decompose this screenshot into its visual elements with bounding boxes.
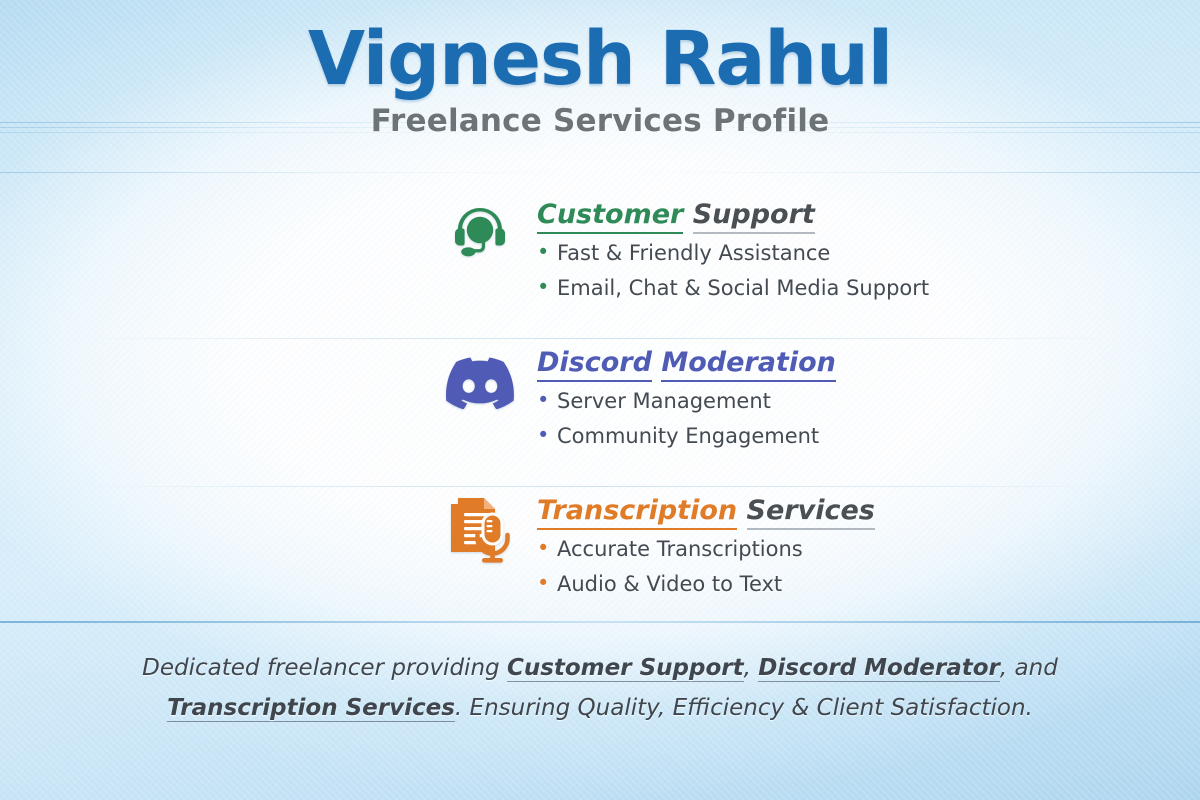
list-item: Email, Chat & Social Media Support	[537, 271, 929, 306]
footer-text-post: , and	[1000, 655, 1058, 681]
service-bullets: Fast & Friendly Assistance Email, Chat &…	[537, 236, 929, 307]
page-subtitle: Freelance Services Profile	[0, 103, 1200, 139]
service-item-customer-support: Customer Support Fast & Friendly Assista…	[0, 190, 1200, 338]
service-title: Transcription Services	[537, 496, 875, 526]
service-bullets: Server Management Community Engagement	[537, 384, 836, 455]
headset-icon	[443, 198, 517, 272]
footer-highlight-discord-moderator: Discord Moderator	[758, 655, 1000, 682]
footer-text-mid: ,	[744, 655, 759, 681]
service-content: Discord Moderation Server Management Com…	[517, 338, 836, 454]
services-list: Customer Support Fast & Friendly Assista…	[0, 190, 1200, 634]
service-title-word1: Discord	[537, 347, 652, 382]
profile-poster: Vignesh Rahul Freelance Services Profile	[0, 0, 1200, 800]
service-bullets: Accurate Transcriptions Audio & Video to…	[537, 532, 875, 603]
header-divider	[0, 172, 1200, 173]
service-title: Discord Moderation	[537, 348, 836, 378]
service-title-word2: Services	[747, 495, 875, 530]
footer-highlight-transcription-services: Transcription Services	[167, 695, 455, 722]
service-title-word2: Moderation	[661, 347, 836, 382]
footer-highlight-customer-support: Customer Support	[507, 655, 744, 682]
footer-text-closing: . Ensuring Quality, Efficiency & Client …	[455, 695, 1033, 721]
service-content: Customer Support Fast & Friendly Assista…	[517, 190, 929, 306]
list-item: Audio & Video to Text	[537, 567, 875, 602]
list-item: Server Management	[537, 384, 836, 419]
footer-tagline: Dedicated freelancer providing Customer …	[0, 648, 1200, 729]
service-title: Customer Support	[537, 200, 929, 230]
footer-line-1: Dedicated freelancer providing Customer …	[0, 648, 1200, 688]
list-item: Accurate Transcriptions	[537, 532, 875, 567]
footer-line-2: Transcription Services. Ensuring Quality…	[0, 688, 1200, 728]
header: Vignesh Rahul Freelance Services Profile	[0, 22, 1200, 139]
list-item: Fast & Friendly Assistance	[537, 236, 929, 271]
transcription-icon	[443, 494, 517, 568]
list-item: Community Engagement	[537, 419, 836, 454]
page-title: Vignesh Rahul	[0, 22, 1200, 97]
service-title-word1: Customer	[537, 199, 683, 234]
footer-divider	[0, 621, 1200, 623]
service-item-transcription-services: Transcription Services Accurate Transcri…	[0, 486, 1200, 634]
service-title-word2: Support	[693, 199, 815, 234]
service-title-word1: Transcription	[537, 495, 737, 530]
service-item-discord-moderation: Discord Moderation Server Management Com…	[0, 338, 1200, 486]
footer-text-pre: Dedicated freelancer providing	[142, 655, 507, 681]
service-content: Transcription Services Accurate Transcri…	[517, 486, 875, 602]
discord-icon	[443, 346, 517, 420]
